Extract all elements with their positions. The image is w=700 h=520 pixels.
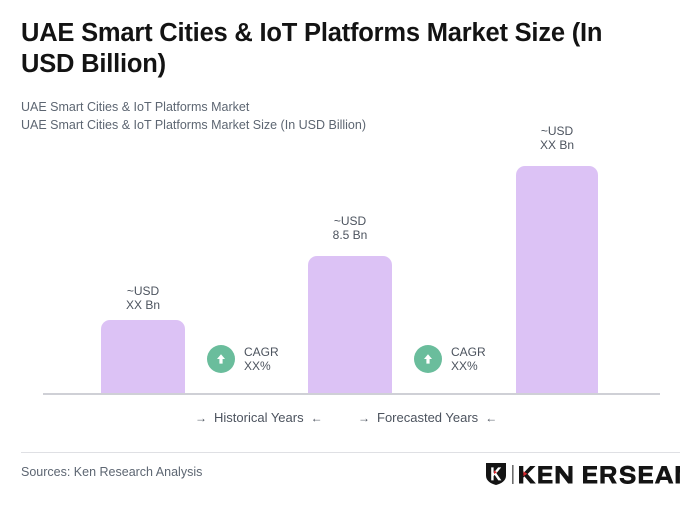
period-label-historical: → Historical Years ← xyxy=(195,410,323,425)
bar-value-label-base-year: ~USD8.5 Bn xyxy=(310,214,390,242)
period-label-historical-text: Historical Years xyxy=(214,410,304,425)
arrow-right-icon: → xyxy=(195,412,207,424)
ken-research-logo xyxy=(485,462,680,486)
chart-page: UAE Smart Cities & IoT Platforms Market … xyxy=(0,0,700,520)
ken-research-shield-icon xyxy=(485,462,507,486)
page-title: UAE Smart Cities & IoT Platforms Market … xyxy=(21,18,651,80)
period-label-forecasted: → Forecasted Years ← xyxy=(358,410,497,425)
footer-divider xyxy=(21,452,680,453)
bar-forecast xyxy=(516,166,598,394)
x-axis-line xyxy=(43,393,660,395)
arrow-up-icon xyxy=(207,345,235,373)
ken-research-wordmark xyxy=(512,464,680,485)
bar-value-label-historical: ~USDXX Bn xyxy=(103,284,183,312)
period-labels: → Historical Years ← → Forecasted Years … xyxy=(43,408,660,432)
chart-subtitle-line-1: UAE Smart Cities & IoT Platforms Market xyxy=(21,98,641,116)
arrow-left-icon: ← xyxy=(485,412,497,424)
cagr-label-historical-to-base: CAGRXX% xyxy=(244,345,279,373)
chart-subtitle-block: UAE Smart Cities & IoT Platforms Market … xyxy=(21,98,641,134)
cagr-badge-base-to-forecast: CAGRXX% xyxy=(414,345,486,373)
cagr-label-base-to-forecast: CAGRXX% xyxy=(451,345,486,373)
bar-historical xyxy=(101,320,185,394)
cagr-badge-historical-to-base: CAGRXX% xyxy=(207,345,279,373)
sources-text: Sources: Ken Research Analysis xyxy=(21,465,202,479)
arrow-right-icon: → xyxy=(358,412,370,424)
period-label-forecasted-text: Forecasted Years xyxy=(377,410,478,425)
chart-subtitle-line-2: UAE Smart Cities & IoT Platforms Market … xyxy=(21,116,641,134)
arrow-left-icon: ← xyxy=(311,412,323,424)
bar-base-year xyxy=(308,256,392,394)
arrow-up-icon xyxy=(414,345,442,373)
